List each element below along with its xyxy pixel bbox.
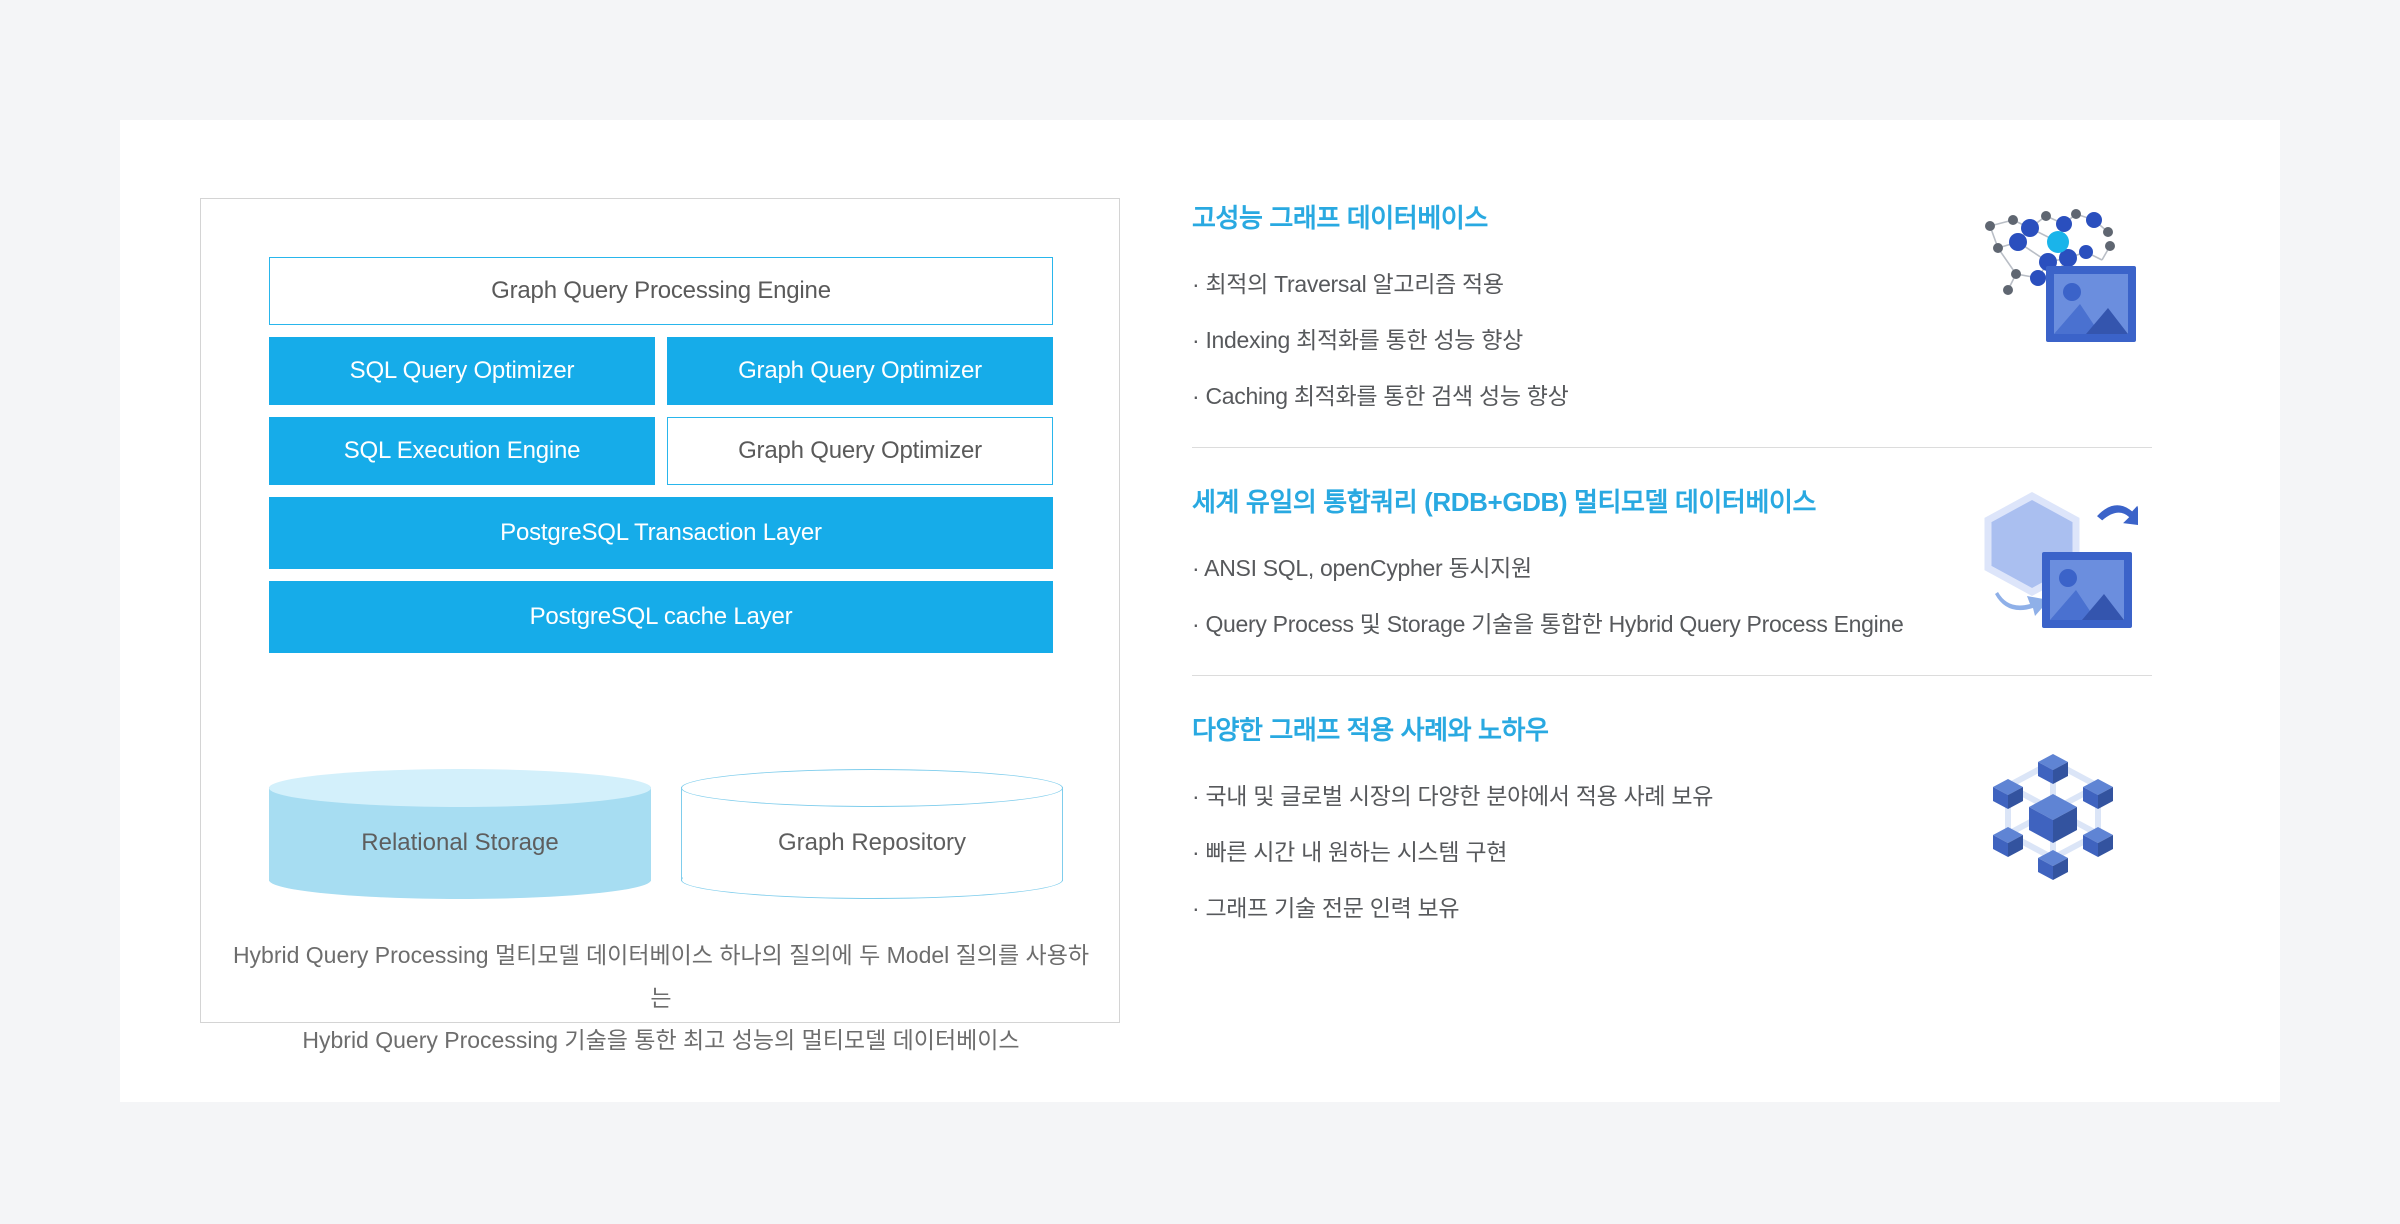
caption-line-2: Hybrid Query Processing 기술을 통한 최고 성능의 멀티… (231, 1019, 1091, 1062)
block-graph-query-optimizer[interactable]: Graph Query Optimizer (667, 337, 1053, 405)
block-label: SQL Query Optimizer (350, 357, 575, 385)
feature-section-high-performance-graph-db: 고성능 그래프 데이터베이스 · 최적의 Traversal 알고리즘 적용 ·… (1192, 198, 2152, 447)
stack-row: PostgreSQL cache Layer (269, 581, 1053, 653)
caption-line-1: Hybrid Query Processing 멀티모델 데이터베이스 하나의 … (231, 934, 1091, 1019)
block-sql-execution-engine[interactable]: SQL Execution Engine (269, 417, 655, 485)
cylinder-label: Relational Storage (269, 769, 651, 899)
feature-bullet: · 그래프 기술 전문 인력 보유 (1192, 889, 2152, 923)
block-label: PostgreSQL cache Layer (530, 603, 793, 631)
stack-row: Graph Query Processing Engine (269, 257, 1053, 325)
block-label: Graph Query Processing Engine (491, 277, 831, 305)
cylinder-relational-storage[interactable]: Relational Storage (269, 769, 651, 899)
block-postgresql-cache-layer[interactable]: PostgreSQL cache Layer (269, 581, 1053, 653)
diagram-caption: Hybrid Query Processing 멀티모델 데이터베이스 하나의 … (231, 934, 1091, 1062)
hexagon-sync-broken-image-icon (1968, 488, 2138, 638)
architecture-diagram-card: Graph Query Processing Engine SQL Query … (200, 198, 1120, 1023)
feature-section-graph-use-cases-knowhow: 다양한 그래프 적용 사례와 노하우 · 국내 및 글로벌 시장의 다양한 분야… (1192, 675, 2152, 959)
block-graph-query-processing-engine[interactable]: Graph Query Processing Engine (269, 257, 1053, 325)
feature-section-unified-query-multimodel-db: 세계 유일의 통합쿼리 (RDB+GDB) 멀티모델 데이터베이스 · ANSI… (1192, 447, 2152, 675)
block-graph-query-optimizer-2[interactable]: Graph Query Optimizer (667, 417, 1053, 485)
block-label: Graph Query Optimizer (738, 437, 982, 465)
block-label: Graph Query Optimizer (738, 357, 982, 385)
cylinder-graph-repository[interactable]: Graph Repository (681, 769, 1063, 899)
network-graph-broken-image-icon (1968, 204, 2138, 354)
block-label: SQL Execution Engine (344, 437, 581, 465)
block-postgresql-transaction-layer[interactable]: PostgreSQL Transaction Layer (269, 497, 1053, 569)
block-sql-query-optimizer[interactable]: SQL Query Optimizer (269, 337, 655, 405)
stack-row: PostgreSQL Transaction Layer (269, 497, 1053, 569)
block-label: PostgreSQL Transaction Layer (500, 519, 822, 547)
cube-network-icon (1968, 734, 2138, 884)
feature-bullet: · Caching 최적화를 통한 검색 성능 향상 (1192, 377, 2152, 411)
stack-row: SQL Query Optimizer Graph Query Optimize… (269, 337, 1053, 405)
stack-row: SQL Execution Engine Graph Query Optimiz… (269, 417, 1053, 485)
cylinder-label: Graph Repository (681, 769, 1063, 899)
feature-list: 고성능 그래프 데이터베이스 · 최적의 Traversal 알고리즘 적용 ·… (1192, 198, 2152, 959)
page-container: Graph Query Processing Engine SQL Query … (120, 120, 2280, 1102)
storage-cylinders: Relational Storage Graph Repository (269, 769, 1069, 899)
architecture-stack: Graph Query Processing Engine SQL Query … (269, 257, 1053, 665)
